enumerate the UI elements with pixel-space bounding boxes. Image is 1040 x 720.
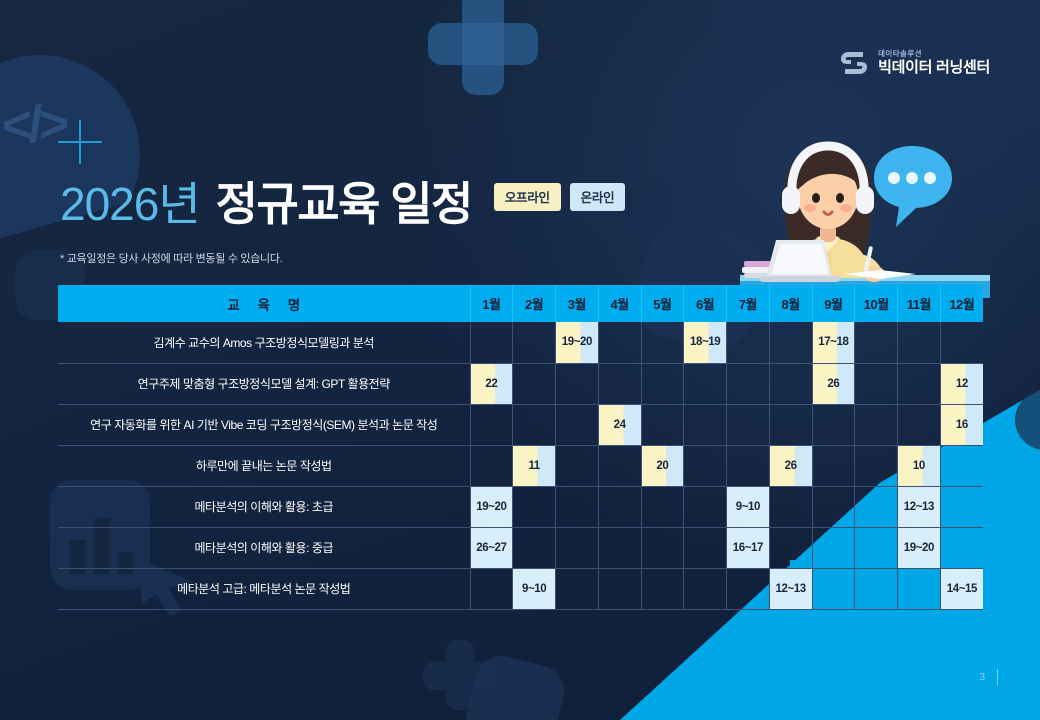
- schedule-cell-both[interactable]: 20: [641, 445, 684, 486]
- schedule-cell-empty: [898, 568, 941, 609]
- schedule-cell-empty: [940, 486, 983, 527]
- schedule-cell-empty: [513, 322, 556, 363]
- schedule-cell-value: 20: [656, 460, 668, 472]
- schedule-cell-empty: [855, 404, 898, 445]
- schedule-cell-online[interactable]: 16~17: [727, 527, 770, 568]
- schedule-cell-empty: [556, 445, 599, 486]
- schedule-cell-empty: [684, 404, 727, 445]
- schedule-cell-online[interactable]: 19~20: [470, 486, 513, 527]
- schedule-cell-empty: [727, 404, 770, 445]
- schedule-cell-empty: [940, 527, 983, 568]
- schedule-cell-online[interactable]: 12~13: [898, 486, 941, 527]
- schedule-cell-empty: [598, 445, 641, 486]
- schedule-cell-empty: [598, 568, 641, 609]
- schedule-cell-empty: [940, 322, 983, 363]
- schedule-cell-empty: [598, 363, 641, 404]
- page-title: 정규교육 일정: [216, 168, 472, 234]
- page-number: 3: [979, 669, 998, 685]
- schedule-cell-online[interactable]: 14~15: [940, 568, 983, 609]
- schedule-cell-empty: [470, 445, 513, 486]
- schedule-cell-both[interactable]: 24: [598, 404, 641, 445]
- schedule-cell-empty: [812, 568, 855, 609]
- schedule-cell-empty: [684, 568, 727, 609]
- schedule-cell-both[interactable]: 22: [470, 363, 513, 404]
- schedule-cell-empty: [898, 404, 941, 445]
- schedule-cell-value: 26: [785, 460, 797, 472]
- schedule-cell-empty: [513, 404, 556, 445]
- schedule-cell-empty: [812, 527, 855, 568]
- column-header-course: 교 육 명: [58, 285, 470, 322]
- schedule-cell-online[interactable]: 12~13: [769, 568, 812, 609]
- schedule-cell-empty: [855, 568, 898, 609]
- crosshair-icon: [58, 120, 102, 164]
- table-body: 김계수 교수의 Amos 구조방정식모델링과 분석19~2018~1917~18…: [58, 322, 983, 609]
- schedule-cell-empty: [598, 322, 641, 363]
- schedule-cell-empty: [684, 486, 727, 527]
- column-header-month: 3월: [556, 285, 599, 322]
- course-name-cell: 메타분석 고급: 메타분석 논문 작성법: [58, 568, 470, 609]
- schedule-cell-both[interactable]: 26: [769, 445, 812, 486]
- schedule-cell-both[interactable]: 19~20: [556, 322, 599, 363]
- schedule-cell-empty: [769, 322, 812, 363]
- schedule-cell-value: 12: [956, 378, 968, 390]
- schedule-cell-empty: [855, 527, 898, 568]
- schedule-cell-empty: [769, 404, 812, 445]
- schedule-cell-value: 22: [485, 378, 497, 390]
- schedule-cell-empty: [727, 322, 770, 363]
- schedule-cell-empty: [855, 363, 898, 404]
- schedule-cell-empty: [470, 404, 513, 445]
- schedule-cell-empty: [684, 445, 727, 486]
- schedule-cell-value: 18~19: [690, 336, 720, 348]
- course-name-cell: 김계수 교수의 Amos 구조방정식모델링과 분석: [58, 322, 470, 363]
- page-number-divider: [997, 669, 998, 685]
- schedule-cell-empty: [556, 404, 599, 445]
- schedule-cell-value: 12~13: [775, 583, 805, 595]
- schedule-cell-value: 16: [956, 419, 968, 431]
- legend-badge-offline[interactable]: 오프라인: [494, 183, 561, 211]
- heading-note: * 교육일정은 당사 사정에 따라 변동될 수 있습니다.: [60, 250, 625, 266]
- page-heading: 2026년 정규교육 일정 오프라인 온라인 * 교육일정은 당사 사정에 따라…: [60, 168, 625, 266]
- schedule-cell-empty: [855, 445, 898, 486]
- schedule-cell-value: 19~20: [476, 501, 506, 513]
- schedule-cell-empty: [812, 445, 855, 486]
- schedule-cell-empty: [855, 486, 898, 527]
- table-row: 하루만에 끝내는 논문 작성법11202610: [58, 445, 983, 486]
- legend: 오프라인 온라인: [494, 183, 625, 211]
- course-name-cell: 연구주제 맞춤형 구조방정식모델 설계: GPT 활용전략: [58, 363, 470, 404]
- schedule-cell-value: 11: [528, 460, 539, 472]
- table-row: 김계수 교수의 Amos 구조방정식모델링과 분석19~2018~1917~18: [58, 322, 983, 363]
- schedule-cell-empty: [684, 527, 727, 568]
- schedule-cell-empty: [641, 568, 684, 609]
- schedule-cell-both[interactable]: 12: [940, 363, 983, 404]
- schedule-cell-empty: [513, 486, 556, 527]
- column-header-month: 5월: [641, 285, 684, 322]
- schedule-cell-empty: [641, 527, 684, 568]
- column-header-month: 7월: [727, 285, 770, 322]
- column-header-month: 9월: [812, 285, 855, 322]
- schedule-cell-value: 26: [827, 378, 839, 390]
- schedule-cell-value: 26~27: [476, 542, 506, 554]
- brand-name: 빅데이터 러닝센터: [878, 59, 990, 76]
- table-row: 메타분석의 이해와 활용: 초급19~209~1012~13: [58, 486, 983, 527]
- column-header-month: 2월: [513, 285, 556, 322]
- schedule-cell-empty: [769, 527, 812, 568]
- column-header-month: 11월: [898, 285, 941, 322]
- brand-logo: 데이타솔루션 빅데이터 러닝센터: [839, 48, 990, 78]
- table-row: 연구주제 맞춤형 구조방정식모델 설계: GPT 활용전략222612: [58, 363, 983, 404]
- schedule-cell-empty: [641, 322, 684, 363]
- schedule-cell-empty: [898, 322, 941, 363]
- schedule-cell-empty: [470, 568, 513, 609]
- table-row: 연구 자동화를 위한 AI 기반 Vibe 코딩 구조방정식(SEM) 분석과 …: [58, 404, 983, 445]
- schedule-cell-online[interactable]: 9~10: [727, 486, 770, 527]
- legend-badge-online[interactable]: 온라인: [570, 183, 626, 211]
- course-name-cell: 메타분석의 이해와 활용: 중급: [58, 527, 470, 568]
- schedule-cell-empty: [684, 363, 727, 404]
- schedule-cell-value: 16~17: [733, 542, 763, 554]
- column-header-month: 4월: [598, 285, 641, 322]
- schedule-cell-online[interactable]: 26~27: [470, 527, 513, 568]
- page-number-value: 3: [979, 672, 985, 683]
- schedule-cell-empty: [812, 404, 855, 445]
- schedule-cell-empty: [940, 445, 983, 486]
- schedule-cell-empty: [556, 568, 599, 609]
- schedule-cell-online[interactable]: 19~20: [898, 527, 941, 568]
- column-header-month: 8월: [769, 285, 812, 322]
- course-name-cell: 하루만에 끝내는 논문 작성법: [58, 445, 470, 486]
- schedule-cell-empty: [470, 322, 513, 363]
- schedule-cell-empty: [556, 486, 599, 527]
- schedule-cell-empty: [727, 445, 770, 486]
- schedule-cell-empty: [513, 363, 556, 404]
- schedule-table: 교 육 명 1월 2월 3월 4월 5월 6월 7월 8월 9월 10월 11월…: [58, 285, 983, 610]
- plus-shape-icon: [428, 0, 538, 95]
- schedule-cell-empty: [641, 486, 684, 527]
- table-header-row: 교 육 명 1월 2월 3월 4월 5월 6월 7월 8월 9월 10월 11월…: [58, 285, 983, 322]
- schedule-cell-empty: [769, 486, 812, 527]
- schedule-cell-empty: [598, 527, 641, 568]
- brand-subtitle: 데이타솔루션: [878, 50, 990, 59]
- column-header-month: 12월: [940, 285, 983, 322]
- schedule-cell-both[interactable]: 26: [812, 363, 855, 404]
- logo-mark-icon: [839, 48, 869, 78]
- schedule-cell-value: 9~10: [736, 501, 760, 513]
- course-name-cell: 연구 자동화를 위한 AI 기반 Vibe 코딩 구조방정식(SEM) 분석과 …: [58, 404, 470, 445]
- schedule-cell-empty: [513, 527, 556, 568]
- code-tag-icon: </>: [1, 94, 66, 156]
- schedule-cell-both[interactable]: 17~18: [812, 322, 855, 363]
- schedule-table-wrapper: 교 육 명 1월 2월 3월 4월 5월 6월 7월 8월 9월 10월 11월…: [58, 285, 983, 610]
- schedule-cell-value: 24: [614, 419, 626, 431]
- schedule-cell-both[interactable]: 10: [898, 445, 941, 486]
- schedule-cell-both[interactable]: 11: [513, 445, 556, 486]
- schedule-cell-empty: [855, 322, 898, 363]
- schedule-cell-empty: [898, 363, 941, 404]
- schedule-cell-both[interactable]: 18~19: [684, 322, 727, 363]
- schedule-cell-value: 17~18: [818, 336, 848, 348]
- schedule-cell-value: 19~20: [562, 336, 592, 348]
- schedule-cell-empty: [812, 486, 855, 527]
- table-row: 메타분석 고급: 메타분석 논문 작성법9~1012~1314~15: [58, 568, 983, 609]
- schedule-cell-both[interactable]: 16: [940, 404, 983, 445]
- schedule-cell-value: 10: [913, 460, 925, 472]
- schedule-cell-empty: [769, 363, 812, 404]
- course-name-cell: 메타분석의 이해와 활용: 초급: [58, 486, 470, 527]
- schedule-cell-value: 9~10: [522, 583, 546, 595]
- speech-bubble-icon: [874, 146, 952, 227]
- schedule-cell-empty: [641, 404, 684, 445]
- schedule-cell-empty: [598, 486, 641, 527]
- heading-year: 2026년: [60, 168, 200, 234]
- schedule-cell-empty: [556, 527, 599, 568]
- schedule-cell-empty: [727, 363, 770, 404]
- schedule-cell-empty: [727, 568, 770, 609]
- column-header-month: 10월: [855, 285, 898, 322]
- schedule-cell-value: 19~20: [904, 542, 934, 554]
- schedule-cell-value: 12~13: [904, 501, 934, 513]
- schedule-cell-empty: [556, 363, 599, 404]
- table-head: 교 육 명 1월 2월 3월 4월 5월 6월 7월 8월 9월 10월 11월…: [58, 285, 983, 322]
- schedule-cell-online[interactable]: 9~10: [513, 568, 556, 609]
- schedule-cell-value: 14~15: [947, 583, 977, 595]
- column-header-month: 6월: [684, 285, 727, 322]
- student-illustration: [740, 128, 1010, 298]
- table-row: 메타분석의 이해와 활용: 중급26~2716~1719~20: [58, 527, 983, 568]
- schedule-cell-empty: [641, 363, 684, 404]
- column-header-month: 1월: [470, 285, 513, 322]
